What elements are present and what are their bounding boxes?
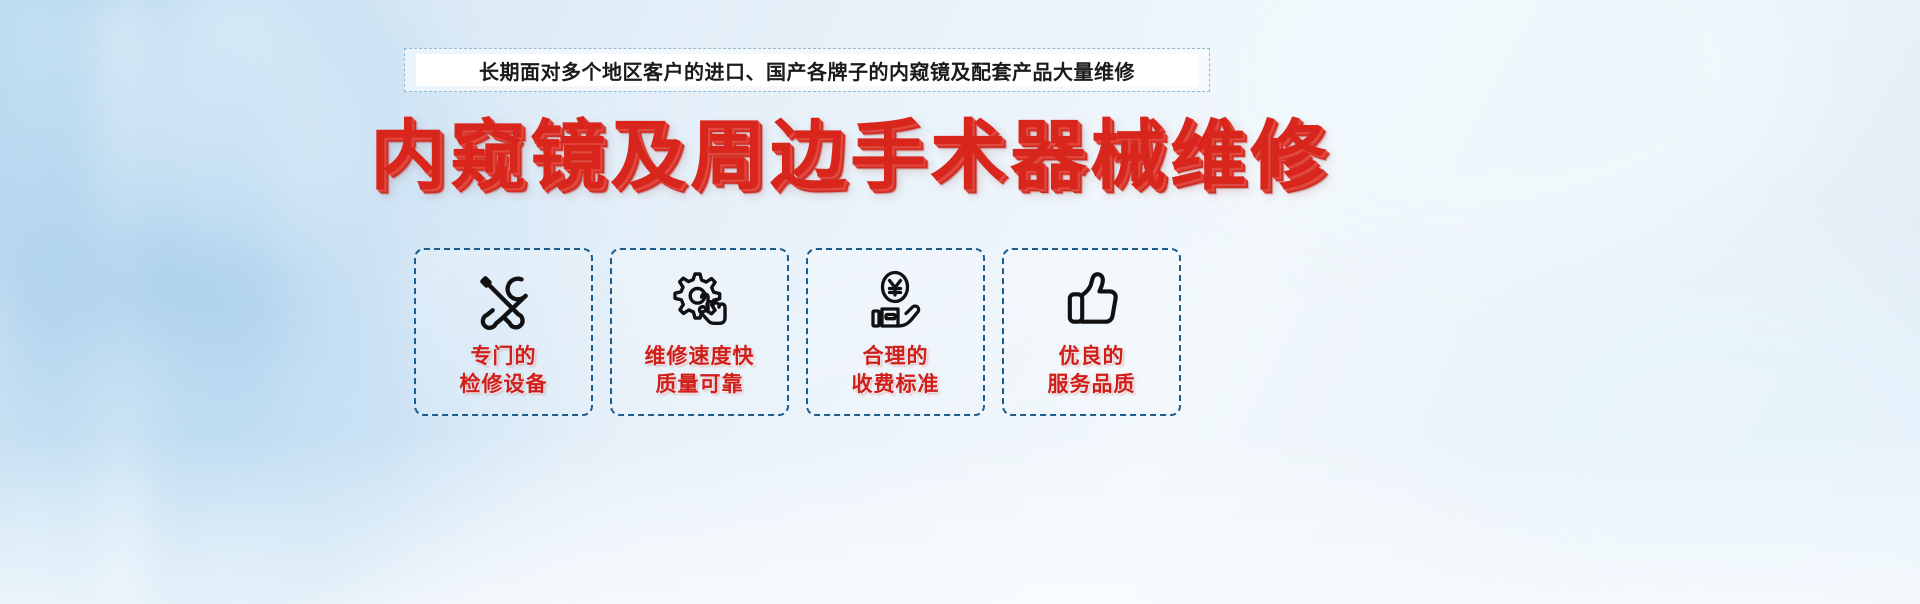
- page-title-text: 内窥镜及周边手术器械维修: [370, 110, 1330, 202]
- feature-card-label-line1: 优良的: [1048, 342, 1136, 370]
- feature-card-label-line2: 质量可靠: [645, 370, 755, 398]
- feature-card-equipment[interactable]: 专门的 检修设备: [414, 248, 593, 416]
- feature-card-speed[interactable]: 维修速度快 质量可靠: [610, 248, 789, 416]
- page-title: 内窥镜及周边手术器械维修: [0, 110, 1920, 202]
- subheadline-text: 长期面对多个地区客户的进口、国产各牌子的内窥镜及配套产品大量维修: [479, 56, 1135, 85]
- feature-card-label-line1: 维修速度快: [645, 342, 755, 370]
- feature-card-service[interactable]: 优良的 服务品质: [1002, 248, 1181, 416]
- subheadline-box: 长期面对多个地区客户的进口、国产各牌子的内窥镜及配套产品大量维修: [404, 48, 1210, 92]
- feature-card-label-line1: 专门的: [460, 342, 548, 370]
- screwdriver-wrench-icon: [467, 264, 541, 338]
- feature-card-label: 专门的 检修设备: [460, 342, 548, 398]
- feature-card-label: 优良的 服务品质: [1048, 342, 1136, 398]
- feature-card-label: 维修速度快 质量可靠: [645, 342, 755, 398]
- feature-card-pricing[interactable]: 合理的 收费标准: [806, 248, 985, 416]
- feature-card-label-line2: 服务品质: [1048, 370, 1136, 398]
- gear-click-icon: [663, 264, 737, 338]
- hand-yen-coin-icon: [859, 264, 933, 338]
- promo-banner: 长期面对多个地区客户的进口、国产各牌子的内窥镜及配套产品大量维修 内窥镜及周边手…: [0, 0, 1920, 604]
- feature-card-label: 合理的 收费标准: [852, 342, 940, 398]
- banner-content: 长期面对多个地区客户的进口、国产各牌子的内窥镜及配套产品大量维修 内窥镜及周边手…: [0, 0, 1920, 604]
- feature-card-label-line2: 检修设备: [460, 370, 548, 398]
- feature-card-label-line2: 收费标准: [852, 370, 940, 398]
- feature-card-label-line1: 合理的: [852, 342, 940, 370]
- feature-card-list: 专门的 检修设备 维修速度快: [414, 248, 1434, 416]
- thumbs-up-icon: [1055, 264, 1129, 338]
- subheadline-inner: 长期面对多个地区客户的进口、国产各牌子的内窥镜及配套产品大量维修: [416, 54, 1198, 86]
